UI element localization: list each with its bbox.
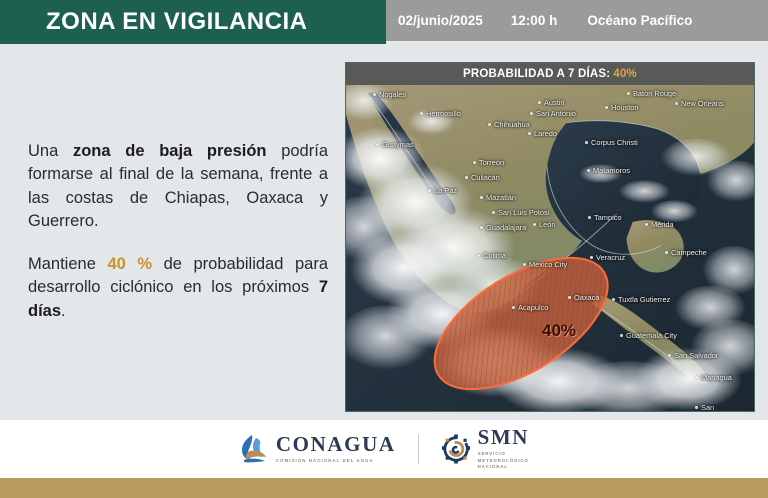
conagua-logo: CONAGUA COMISIÓN NACIONAL DEL AGUA	[239, 433, 396, 465]
p2-lead: Mantiene	[28, 255, 107, 273]
zone-probability-label: 40%	[542, 321, 576, 341]
header-meta-panel: 02/junio/2025 12:00 h Océano Pacífico	[386, 0, 768, 41]
page-title: ZONA EN VIGILANCIA	[46, 8, 307, 36]
conagua-name: CONAGUA	[276, 434, 396, 455]
conagua-wordmark: CONAGUA COMISIÓN NACIONAL DEL AGUA	[276, 434, 396, 464]
header-date: 02/junio/2025	[398, 13, 483, 28]
logo-divider	[418, 434, 419, 464]
smn-spiral-glyph-icon	[441, 433, 471, 465]
header-time: 12:00 h	[511, 13, 558, 28]
conagua-eagle-water-icon	[239, 433, 269, 465]
logo-row: CONAGUA COMISIÓN NACIONAL DEL AGUA	[239, 427, 529, 470]
map-probability-banner: PROBABILIDAD A 7 DÍAS: 40%	[346, 63, 754, 85]
p1-lead: Una	[28, 142, 73, 160]
header-bar: ZONA EN VIGILANCIA 02/junio/2025 12:00 h…	[0, 0, 768, 44]
infographic-page: ZONA EN VIGILANCIA 02/junio/2025 12:00 h…	[0, 0, 768, 498]
banner-label: PROBABILIDAD A 7 DÍAS:	[463, 68, 610, 80]
smn-wordmark: SMN SERVICIOMETEOROLÓGICONACIONAL	[478, 427, 529, 470]
p1-bold-phrase: zona de baja presión	[73, 142, 267, 160]
conagua-subtitle: COMISIÓN NACIONAL DEL AGUA	[276, 458, 396, 464]
map-imagery	[346, 63, 754, 411]
p2-tail: .	[61, 302, 66, 320]
smn-name: SMN	[478, 427, 529, 448]
banner-probability-value: 40%	[613, 68, 637, 80]
satellite-map[interactable]: PROBABILIDAD A 7 DÍAS: 40% NogalesHermos…	[345, 62, 755, 412]
header-title-panel: ZONA EN VIGILANCIA	[0, 0, 386, 44]
paragraph-spacer	[28, 234, 328, 253]
paragraph-one: Una zona de baja presión podría formarse…	[28, 140, 328, 234]
smn-subtitle: SERVICIOMETEOROLÓGICONACIONAL	[478, 451, 529, 470]
header-basin: Océano Pacífico	[587, 13, 692, 28]
description-text: Una zona de baja presión podría formarse…	[28, 140, 328, 323]
paragraph-two: Mantiene 40 % de probabilidad para desar…	[28, 253, 328, 323]
smn-logo: SMN SERVICIOMETEOROLÓGICONACIONAL	[441, 427, 529, 470]
footer-logos: CONAGUA COMISIÓN NACIONAL DEL AGUA	[0, 420, 768, 478]
probability-percent: 40 %	[107, 255, 152, 273]
bottom-accent-bar	[0, 478, 768, 498]
